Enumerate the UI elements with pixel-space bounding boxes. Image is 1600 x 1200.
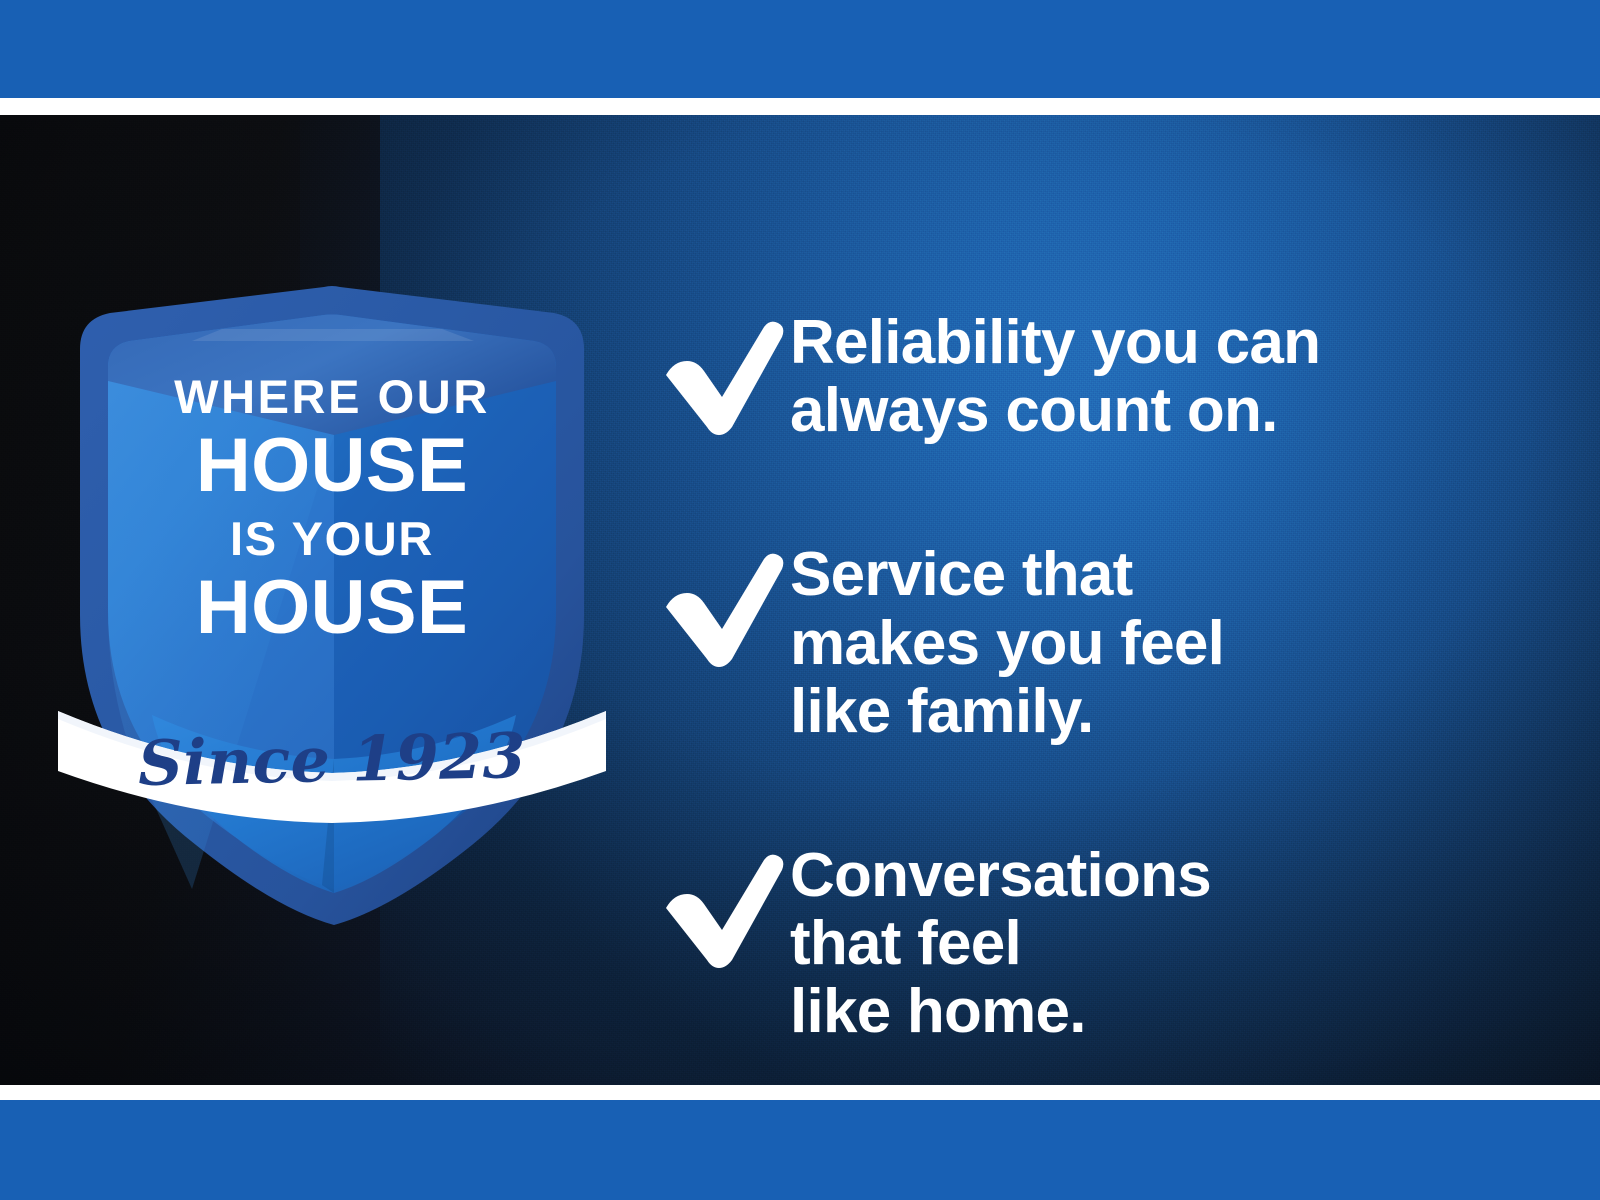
benefit-item: Service that makes you feel like family. — [660, 537, 1540, 746]
bottom-brand-bar — [0, 1100, 1600, 1200]
benefit-text: Conversations that feel like home. — [790, 838, 1540, 1047]
badge-headline-line-1: WHERE OUR — [72, 373, 592, 420]
checkmark-icon — [660, 850, 790, 968]
benefit-item: Conversations that feel like home. — [660, 838, 1540, 1047]
top-divider — [0, 98, 1600, 115]
badge-headline-line-4: HOUSE — [72, 570, 592, 646]
checkmark-icon — [660, 317, 790, 435]
badge-ribbon: Since 1923 — [56, 685, 608, 823]
benefits-list: Reliability you can always count on. Ser… — [660, 305, 1540, 1047]
promo-graphic: WHERE OUR HOUSE IS YOUR HOUSE Since 1923 — [0, 0, 1600, 1200]
top-brand-bar — [0, 0, 1600, 98]
badge-headline: WHERE OUR HOUSE IS YOUR HOUSE — [72, 373, 592, 646]
badge-ribbon-text: Since 1923 — [55, 723, 608, 797]
benefit-text: Reliability you can always count on. — [790, 305, 1540, 445]
benefit-item: Reliability you can always count on. — [660, 305, 1540, 445]
shield-badge: WHERE OUR HOUSE IS YOUR HOUSE Since 1923 — [72, 285, 592, 925]
bottom-divider — [0, 1085, 1600, 1100]
badge-headline-line-3: IS YOUR — [72, 515, 592, 562]
main-stage: WHERE OUR HOUSE IS YOUR HOUSE Since 1923 — [0, 115, 1600, 1085]
badge-headline-line-2: HOUSE — [72, 428, 592, 504]
benefit-text: Service that makes you feel like family. — [790, 537, 1540, 746]
checkmark-icon — [660, 549, 790, 667]
